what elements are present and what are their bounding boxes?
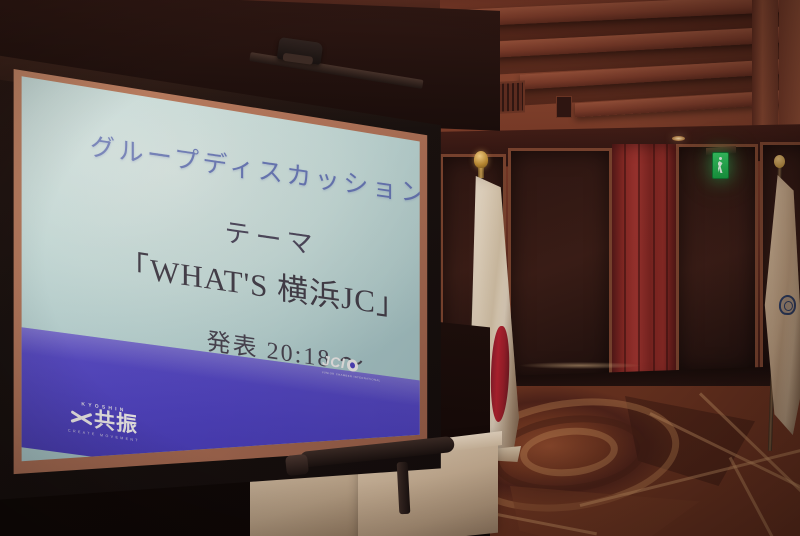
ceiling-column: [752, 0, 778, 140]
emergency-exit-sign: [712, 152, 729, 179]
kyoshin-x-icon: [70, 408, 92, 428]
screen-top-clamp: [277, 37, 324, 65]
ceiling-downlight: [672, 136, 685, 141]
flag-finial: [474, 151, 488, 168]
screen-roller-cap: [285, 454, 309, 476]
jci-shield-icon: [347, 359, 358, 373]
jci-wordmark: JCI: [322, 352, 345, 371]
floor-light-reflection: [520, 362, 640, 369]
jci-flag-icon: [752, 155, 800, 455]
flag-finial: [774, 155, 785, 168]
red-curtain: [612, 144, 676, 382]
projection-screen: グループディスカッション テーマ 「WHAT'S 横浜JC」 発表 20:18 …: [0, 22, 462, 502]
wall-picture-frame: [556, 96, 572, 118]
running-man-exit-icon: [717, 157, 724, 174]
photo-scene: グループディスカッション テーマ 「WHAT'S 横浜JC」 発表 20:18 …: [0, 0, 800, 536]
